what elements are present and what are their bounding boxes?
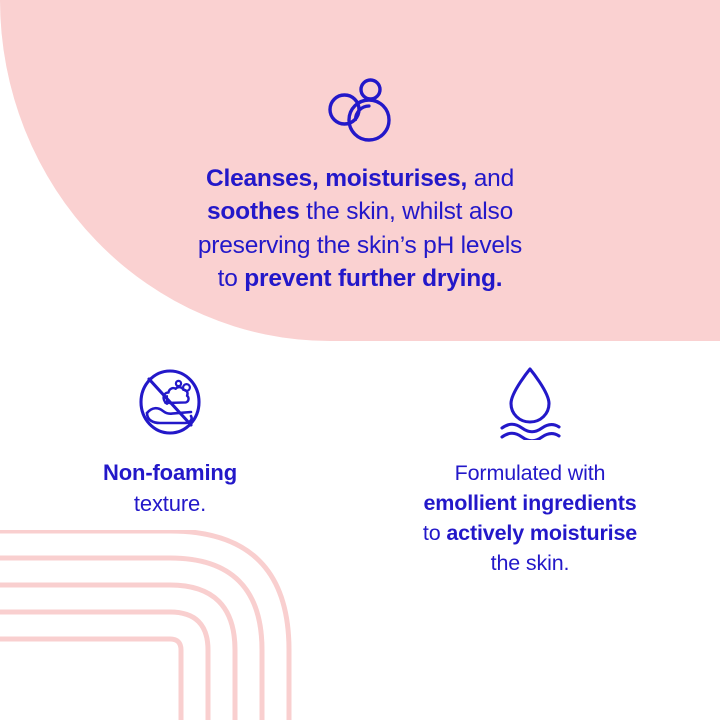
- feature-2-line-4-regular: the skin.: [491, 551, 570, 575]
- hero-line: preserving the skin’s pH levels: [110, 229, 610, 262]
- feature-non-foaming: Non-foaming texture.: [0, 362, 340, 520]
- hero-line-2-regular: the skin, whilst also: [300, 198, 513, 225]
- feature-line: Non-foaming: [28, 458, 312, 489]
- feature-row: Non-foaming texture.: [0, 362, 720, 578]
- hero-line: Cleanses, moisturises, and: [110, 162, 610, 195]
- hero-headline: Cleanses, moisturises, and soothes the s…: [110, 162, 610, 295]
- feature-2-line-3-regular: to: [423, 521, 446, 545]
- hero-line-3-regular: preserving the skin’s pH levels: [198, 232, 522, 259]
- feature-non-foaming-text: Non-foaming texture.: [28, 458, 312, 520]
- hero-line-1-bold: Cleanses, moisturises,: [206, 165, 467, 192]
- feature-2-line-3-bold: actively moisturise: [446, 521, 637, 545]
- hero-line-2-bold: soothes: [207, 198, 300, 225]
- feature-2-line-1-regular: Formulated with: [455, 461, 606, 485]
- feature-2-line-2-bold: emollient ingredients: [423, 491, 636, 515]
- feature-line: texture.: [28, 489, 312, 520]
- no-foam-icon: [134, 366, 206, 438]
- water-drop-icon: [499, 364, 561, 440]
- feature-1-line-1-bold: Non-foaming: [103, 460, 237, 485]
- bubbles-icon: [318, 78, 402, 144]
- feature-1-line-2-regular: texture.: [134, 491, 206, 516]
- feature-line: to actively moisturise: [358, 518, 702, 548]
- hero-block: Cleanses, moisturises, and soothes the s…: [110, 78, 610, 295]
- feature-line: the skin.: [358, 548, 702, 578]
- infographic-canvas: Cleanses, moisturises, and soothes the s…: [0, 0, 720, 720]
- hero-line-1-regular: and: [467, 165, 514, 192]
- hero-line-4-bold: prevent further drying.: [244, 265, 502, 292]
- hero-line: to prevent further drying.: [110, 262, 610, 295]
- feature-line: Formulated with: [358, 458, 702, 488]
- feature-icon-container: [358, 362, 702, 442]
- feature-line: emollient ingredients: [358, 488, 702, 518]
- hero-line-4-regular: to: [218, 265, 245, 292]
- feature-icon-container: [28, 362, 312, 442]
- feature-emollient: Formulated with emollient ingredients to…: [340, 362, 720, 578]
- feature-emollient-text: Formulated with emollient ingredients to…: [358, 458, 702, 578]
- hero-line: soothes the skin, whilst also: [110, 195, 610, 228]
